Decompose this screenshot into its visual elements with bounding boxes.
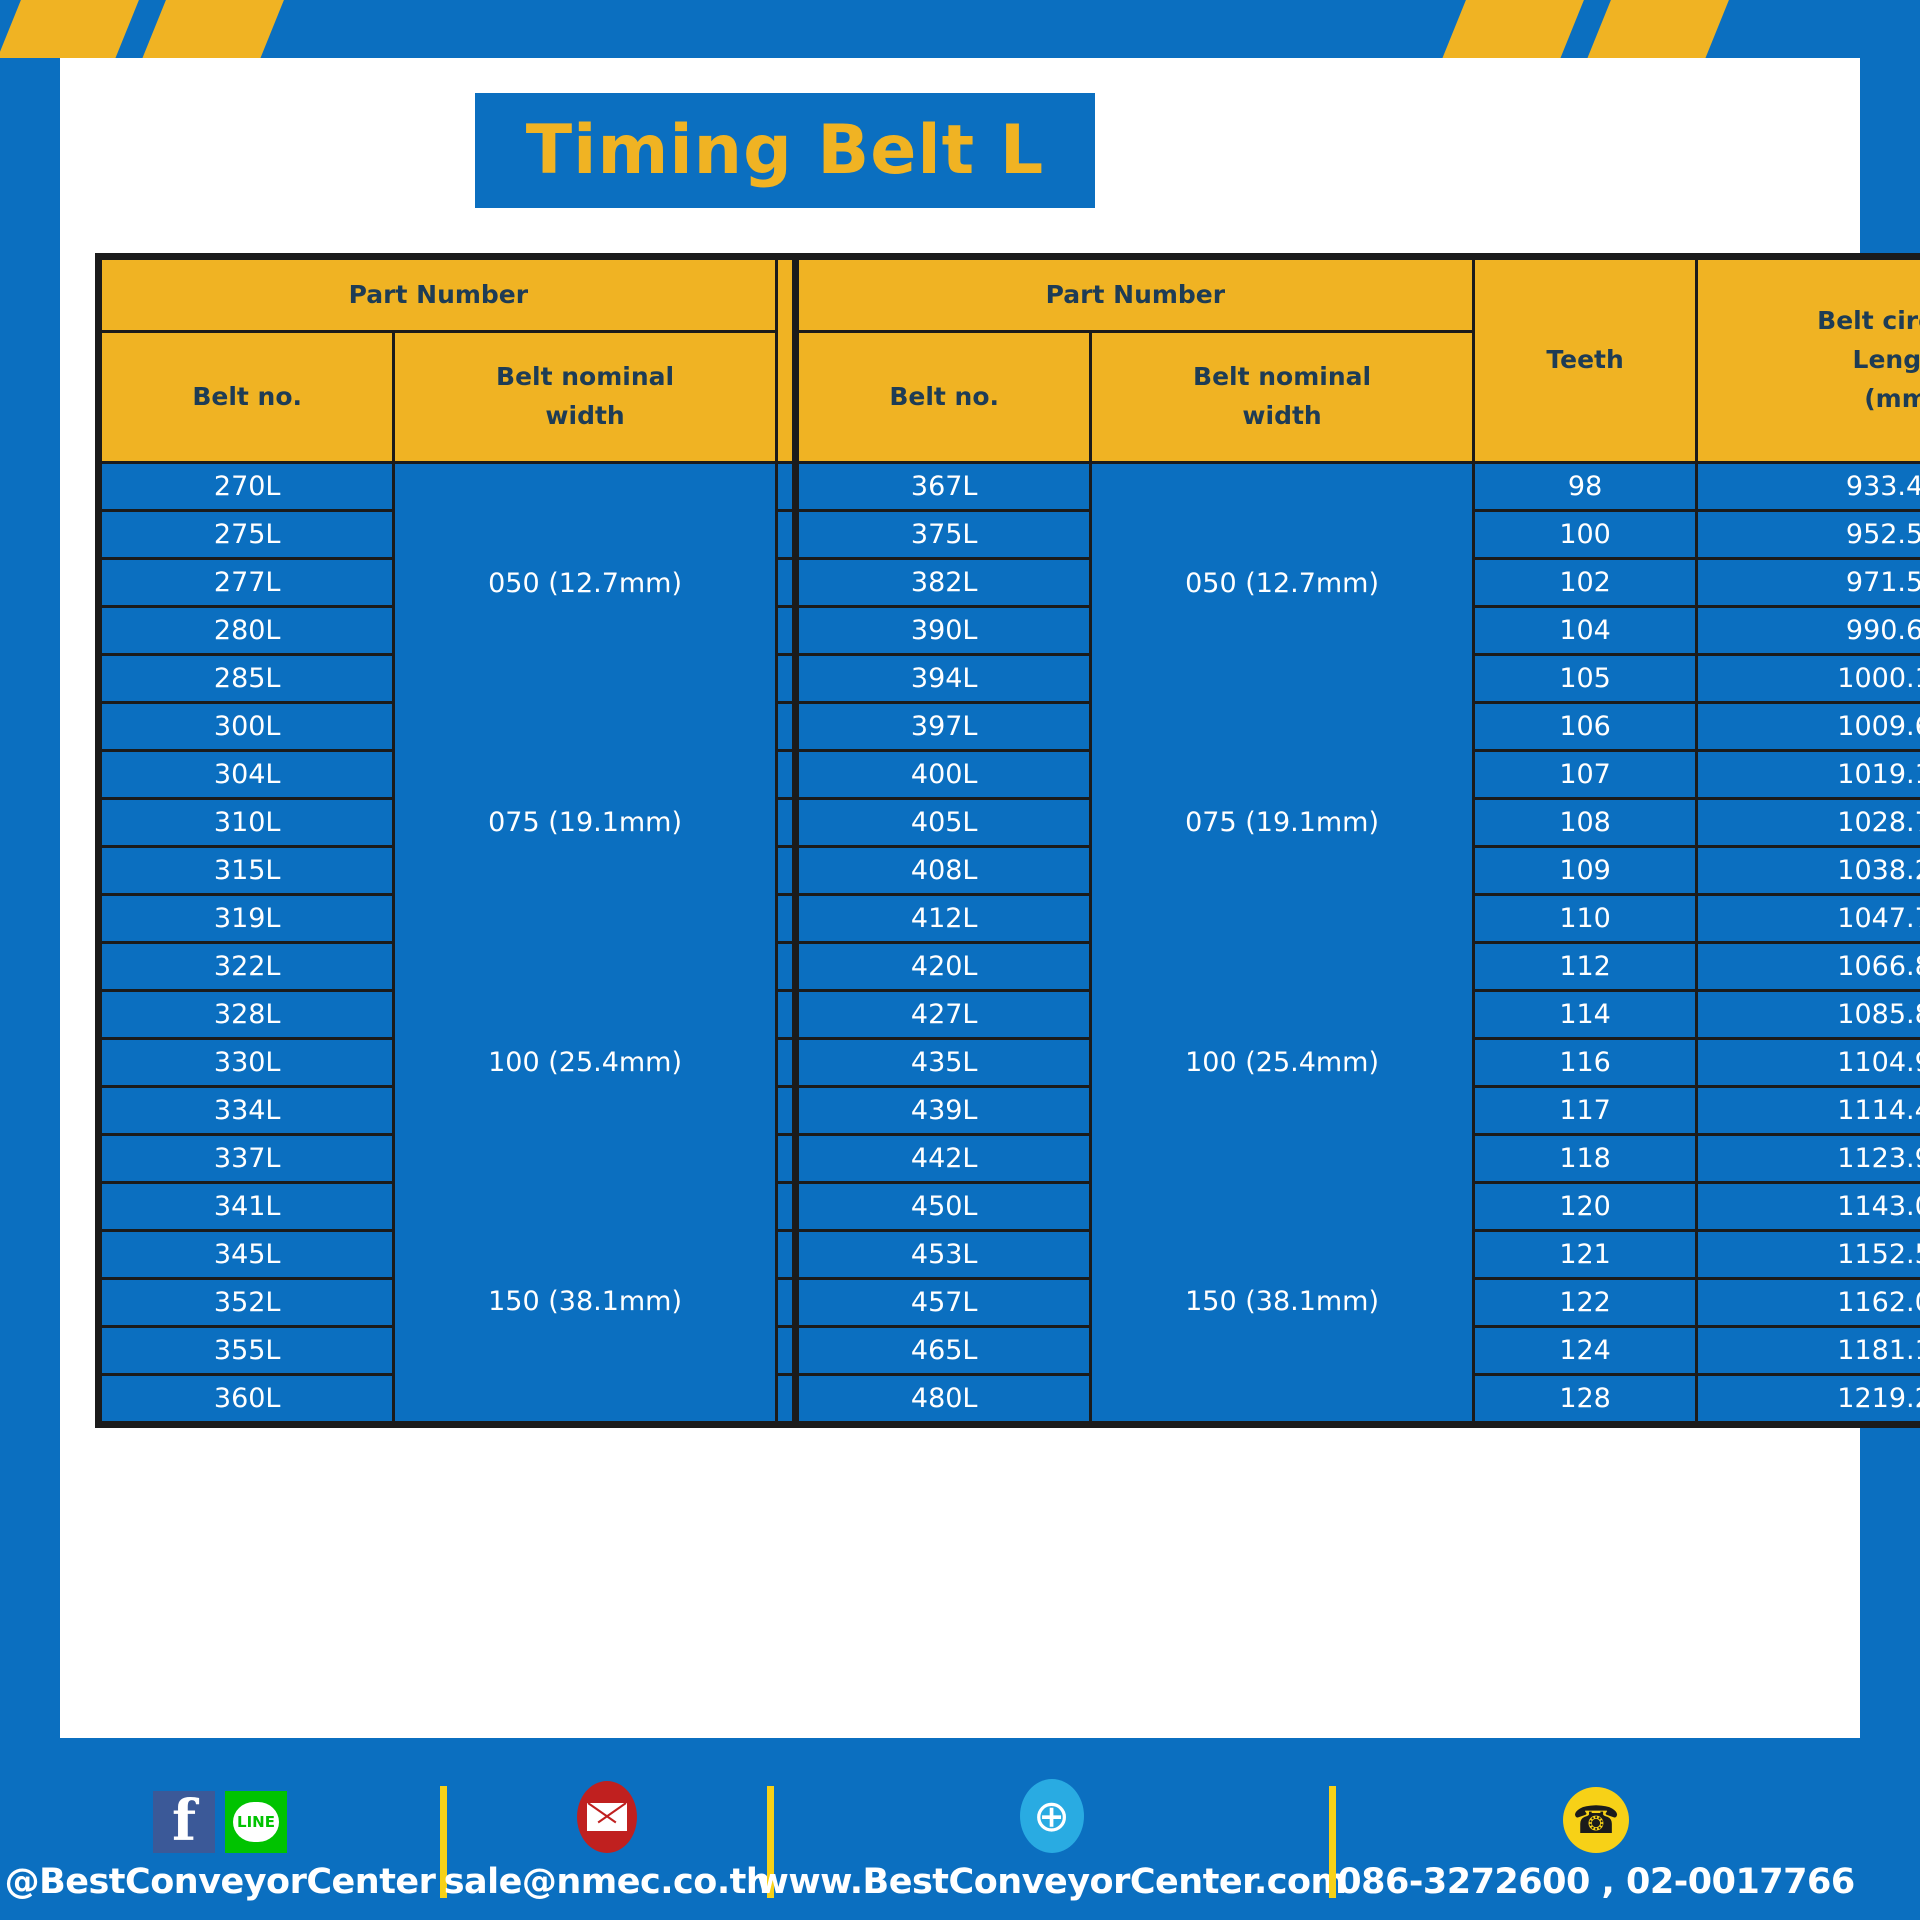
cell-teeth: 109 [1475,848,1696,893]
cell-length: 1047.750 [1698,896,1920,941]
header-belt-nominal-line2: width [1092,397,1471,436]
cell-belt-no: 408L [799,848,1089,893]
footer-web-icons: ⊕ [1020,1779,1084,1853]
cell-belt-no: 328L [102,992,392,1037]
footer-phone[interactable]: ☎ 086-3272600 , 02-0017766 [1336,1738,1856,1920]
page-title: Timing Belt L [526,111,1044,190]
cell-belt-no: 352L [102,1280,392,1325]
header-part-number: Part Number [102,260,775,330]
footer-email-icons [577,1781,637,1853]
footer-email[interactable]: sale@nmec.co.th [447,1738,767,1920]
cell-length: 1143.000 [1698,1184,1920,1229]
cell-belt-no: 480L [799,1376,1089,1421]
width-option: 100 (25.4mm) [395,1045,774,1080]
line-badge-text: LINE [237,1813,275,1831]
cell-belt-no: 315L [102,848,392,893]
cell-belt-no: 427L [799,992,1089,1037]
cell-length: 1219.200 [1698,1376,1920,1421]
cell-teeth: 106 [1475,704,1696,749]
cell-belt-no: 319L [102,896,392,941]
deco-stripe-3 [1442,0,1585,58]
cell-belt-no: 394L [799,656,1089,701]
belt-table-right-wrap: Part Number Teeth Belt circum. Length (m… [792,253,1920,1428]
table-head: Part Number Teeth Belt circum. Length (m… [799,260,1920,461]
cell-belt-no: 275L [102,512,392,557]
cell-belt-no: 341L [102,1184,392,1229]
cell-belt-no: 367L [799,464,1089,509]
width-option: 150 (38.1mm) [395,1284,774,1319]
cell-length: 990.600 [1698,608,1920,653]
header-belt-no: Belt no. [102,333,392,461]
footer-web-label: www.BestConveyorCenter.com [757,1862,1347,1902]
cell-length: 1114.425 [1698,1088,1920,1133]
cell-teeth: 105 [1475,656,1696,701]
cell-belt-no: 345L [102,1232,392,1277]
top-decoration-band [0,0,1920,58]
cell-belt-nominal-width: 050 (12.7mm)075 (19.1mm)100 (25.4mm)150 … [395,464,774,1421]
envelope-shape [587,1803,627,1831]
cell-belt-no: 442L [799,1136,1089,1181]
email-icon[interactable] [577,1781,637,1853]
cell-belt-no: 277L [102,560,392,605]
footer-social-label: @BestConveyorCenter [5,1862,436,1902]
cell-length: 1181.100 [1698,1328,1920,1373]
cell-belt-no: 375L [799,512,1089,557]
header-belt-nominal-line1: Belt nominal [395,358,774,397]
cell-length: 1085.850 [1698,992,1920,1037]
cell-teeth: 108 [1475,800,1696,845]
cell-teeth: 112 [1475,944,1696,989]
cell-belt-no: 439L [799,1088,1089,1133]
cell-belt-no: 330L [102,1040,392,1085]
cell-belt-no: 450L [799,1184,1089,1229]
deco-stripe-1 [0,0,141,58]
header-belt-nominal-line2: width [395,397,774,436]
header-belt-circum-line3: (mm) [1698,380,1920,419]
cell-belt-no: 420L [799,944,1089,989]
width-option: 075 (19.1mm) [1092,805,1471,840]
cell-belt-no: 355L [102,1328,392,1373]
phone-icon[interactable]: ☎ [1563,1787,1629,1853]
footer-social[interactable]: f LINE @BestConveyorCenter [0,1738,440,1920]
footer-website[interactable]: ⊕ www.BestConveyorCenter.com [774,1738,1329,1920]
line-bubble: LINE [233,1802,279,1842]
cell-length: 1104.900 [1698,1040,1920,1085]
cell-belt-no: 337L [102,1136,392,1181]
footer-bar: f LINE @BestConveyorCenter sale@nmec.co.… [0,1738,1920,1920]
cell-belt-no: 270L [102,464,392,509]
cell-belt-no: 390L [799,608,1089,653]
cell-belt-no: 435L [799,1040,1089,1085]
footer-phone-icons: ☎ [1563,1787,1629,1853]
cell-length: 1066.800 [1698,944,1920,989]
cell-belt-no: 405L [799,800,1089,845]
header-belt-circum-length: Belt circum. Length (mm) [1698,260,1920,461]
cell-teeth: 116 [1475,1040,1696,1085]
header-belt-nominal-line1: Belt nominal [1092,358,1471,397]
cell-teeth: 102 [1475,560,1696,605]
cell-length: 1162.050 [1698,1280,1920,1325]
cell-belt-no: 457L [799,1280,1089,1325]
page-title-band: Timing Belt L [475,93,1095,208]
header-part-number: Part Number [799,260,1472,330]
belt-table-right: Part Number Teeth Belt circum. Length (m… [792,253,1920,1428]
cell-belt-no: 360L [102,1376,392,1421]
cell-belt-no: 382L [799,560,1089,605]
width-option: 100 (25.4mm) [1092,1045,1471,1080]
cell-teeth: 117 [1475,1088,1696,1133]
cell-length: 1028.700 [1698,800,1920,845]
cell-belt-no: 334L [102,1088,392,1133]
cell-teeth: 124 [1475,1328,1696,1373]
header-belt-no: Belt no. [799,333,1089,461]
cell-length: 952.500 [1698,512,1920,557]
cell-teeth: 110 [1475,896,1696,941]
width-option: 050 (12.7mm) [1092,566,1471,601]
deco-stripe-4 [1587,0,1730,58]
header-belt-circum-line2: Length [1698,341,1920,380]
cell-teeth: 128 [1475,1376,1696,1421]
cell-length: 1019.175 [1698,752,1920,797]
deco-stripe-2 [142,0,285,58]
width-option: 075 (19.1mm) [395,805,774,840]
header-belt-circum-line1: Belt circum. [1698,302,1920,341]
cell-belt-no: 465L [799,1328,1089,1373]
cell-belt-no: 304L [102,752,392,797]
cell-teeth: 104 [1475,608,1696,653]
footer-phone-label: 086-3272600 , 02-0017766 [1337,1862,1854,1902]
cell-length: 1000.125 [1698,656,1920,701]
cell-teeth: 100 [1475,512,1696,557]
header-belt-nominal-width: Belt nominal width [395,333,774,461]
cell-teeth: 121 [1475,1232,1696,1277]
cell-belt-no: 322L [102,944,392,989]
cell-teeth: 122 [1475,1280,1696,1325]
cell-length: 1009.650 [1698,704,1920,749]
header-teeth: Teeth [1475,260,1696,461]
globe-icon[interactable]: ⊕ [1020,1779,1084,1853]
cell-belt-no: 310L [102,800,392,845]
footer-divider-3 [1329,1786,1336,1898]
cell-belt-no: 400L [799,752,1089,797]
cell-teeth: 98 [1475,464,1696,509]
width-option: 150 (38.1mm) [1092,1284,1471,1319]
cell-belt-no: 453L [799,1232,1089,1277]
table-row: 367L050 (12.7mm)075 (19.1mm)100 (25.4mm)… [799,464,1920,509]
footer-social-icons: f LINE [153,1791,287,1853]
cell-length: 933.450 [1698,464,1920,509]
cell-belt-no: 397L [799,704,1089,749]
cell-teeth: 114 [1475,992,1696,1037]
width-option: 050 (12.7mm) [395,566,774,601]
facebook-icon[interactable]: f [153,1791,215,1853]
cell-length: 1038.225 [1698,848,1920,893]
cell-teeth: 118 [1475,1136,1696,1181]
header-belt-nominal-width: Belt nominal width [1092,333,1471,461]
cell-belt-nominal-width: 050 (12.7mm)075 (19.1mm)100 (25.4mm)150 … [1092,464,1471,1421]
cell-teeth: 107 [1475,752,1696,797]
table-body-right: 367L050 (12.7mm)075 (19.1mm)100 (25.4mm)… [799,464,1920,1421]
cell-length: 1123.950 [1698,1136,1920,1181]
cell-length: 971.550 [1698,560,1920,605]
cell-belt-no: 285L [102,656,392,701]
content-sheet: Timing Belt L Part Number Teeth Belt cir… [60,58,1860,1738]
cell-belt-no: 280L [102,608,392,653]
cell-belt-no: 300L [102,704,392,749]
cell-length: 1152.525 [1698,1232,1920,1277]
cell-teeth: 120 [1475,1184,1696,1229]
line-icon[interactable]: LINE [225,1791,287,1853]
cell-belt-no: 412L [799,896,1089,941]
header-row-1: Part Number Teeth Belt circum. Length (m… [799,260,1920,330]
footer-email-label: sale@nmec.co.th [444,1862,771,1902]
